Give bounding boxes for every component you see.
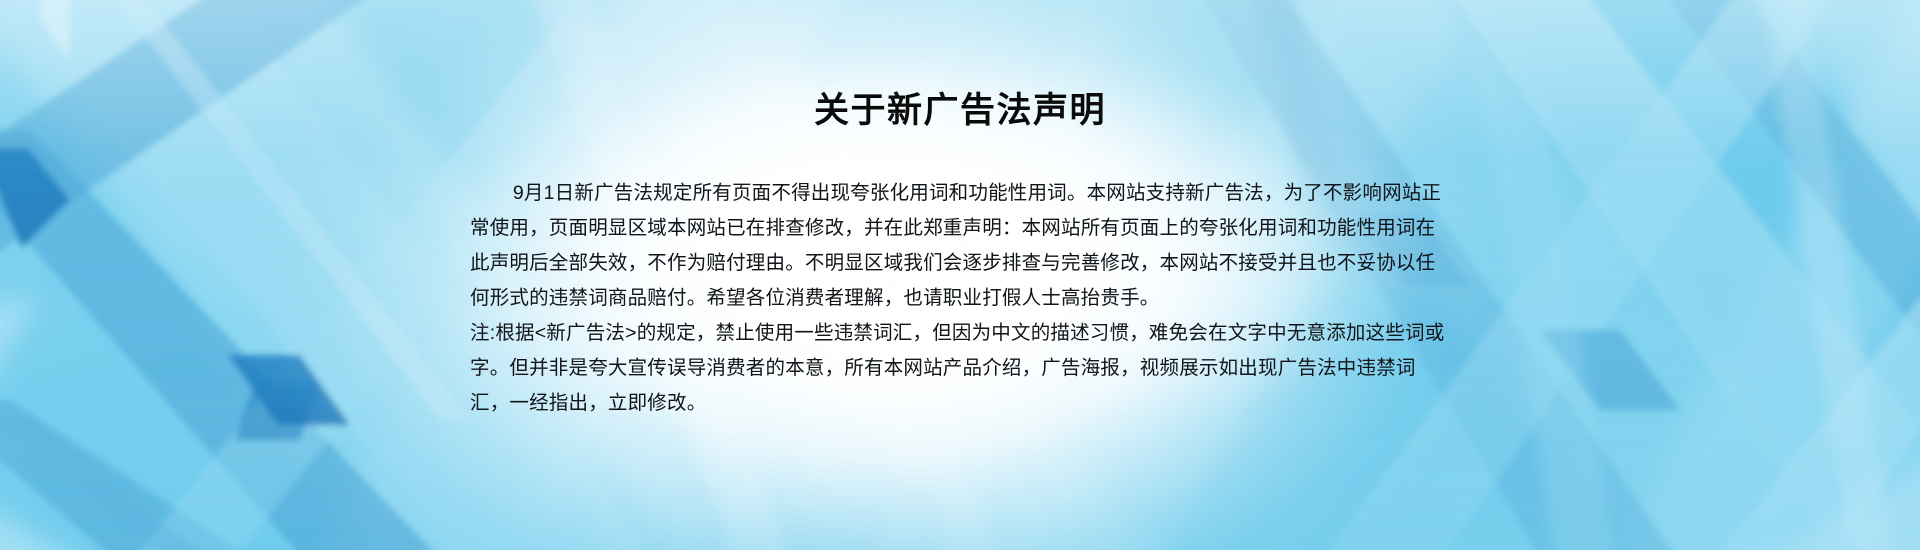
statement-text-block: 9月1日新广告法规定所有页面不得出现夸张化用词和功能性用词。本网站支持新广告法，… <box>470 176 1452 421</box>
page-title: 关于新广告法声明 <box>0 88 1920 134</box>
advertising-law-statement-banner: 关于新广告法声明 9月1日新广告法规定所有页面不得出现夸张化用词和功能性用词。本… <box>0 0 1920 550</box>
statement-note-paragraph: 注:根据<新广告法>的规定，禁止使用一些违禁词汇，但因为中文的描述习惯，难免会在… <box>470 316 1452 421</box>
statement-body-paragraph: 9月1日新广告法规定所有页面不得出现夸张化用词和功能性用词。本网站支持新广告法，… <box>470 176 1452 316</box>
statement-content: 关于新广告法声明 9月1日新广告法规定所有页面不得出现夸张化用词和功能性用词。本… <box>0 0 1920 550</box>
